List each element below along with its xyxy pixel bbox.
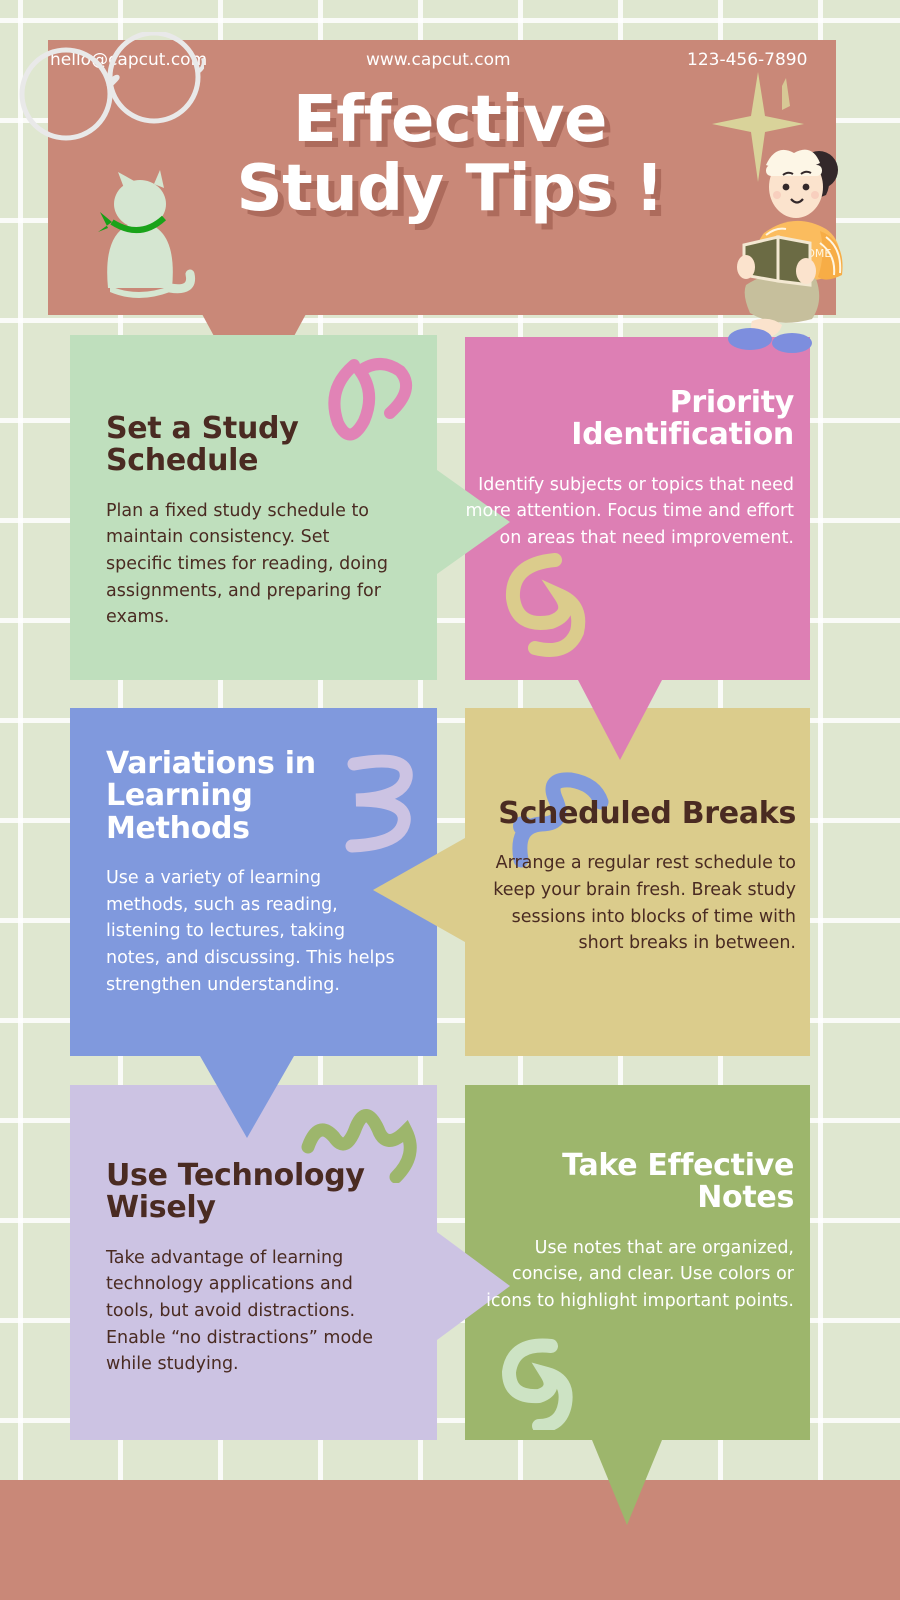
card-body: Use a variety of learning methods, such … bbox=[106, 865, 398, 998]
pale-spiral-doodle bbox=[495, 1330, 595, 1430]
card-body: Take advantage of learning technology ap… bbox=[106, 1245, 406, 1378]
card-body: Identify subjects or topics that need mo… bbox=[465, 472, 794, 552]
glasses-icon bbox=[14, 32, 204, 142]
card-set-a-study-schedule: Set a Study Schedule Plan a fixed study … bbox=[70, 335, 437, 680]
arrow-olive-down bbox=[592, 1440, 662, 1525]
card-title: Variations in Learning Methods bbox=[106, 748, 398, 845]
card-title: Scheduled Breaks bbox=[465, 798, 796, 830]
footer-bar bbox=[0, 1480, 900, 1600]
card-priority-identification: Priority Identification Identify subject… bbox=[465, 337, 810, 680]
tan-spiral-doodle bbox=[497, 552, 597, 662]
reader-illustration: HOME bbox=[700, 125, 860, 355]
card-title: Set a Study Schedule bbox=[106, 413, 396, 478]
card-title: Priority Identification bbox=[465, 387, 794, 452]
infographic-poster: Effective Study Tips ! bbox=[0, 0, 900, 1600]
card-take-effective-notes: Take Effective Notes Use notes that are … bbox=[465, 1085, 810, 1440]
card-use-technology-wisely: Use Technology Wisely Take advantage of … bbox=[70, 1085, 437, 1440]
footer-website[interactable]: www.capcut.com bbox=[366, 50, 511, 70]
card-body: Arrange a regular rest schedule to keep … bbox=[465, 850, 796, 956]
card-title: Take Effective Notes bbox=[465, 1150, 794, 1215]
card-scheduled-breaks: Scheduled Breaks Arrange a regular rest … bbox=[465, 708, 810, 1056]
card-variations-in-learning-methods: Variations in Learning Methods Use a var… bbox=[70, 708, 437, 1056]
footer-phone[interactable]: 123-456-7890 bbox=[687, 50, 807, 70]
cat-icon bbox=[78, 170, 198, 310]
card-title: Use Technology Wisely bbox=[106, 1160, 406, 1225]
card-body: Plan a fixed study schedule to maintain … bbox=[106, 498, 396, 631]
card-body: Use notes that are organized, concise, a… bbox=[465, 1235, 794, 1315]
